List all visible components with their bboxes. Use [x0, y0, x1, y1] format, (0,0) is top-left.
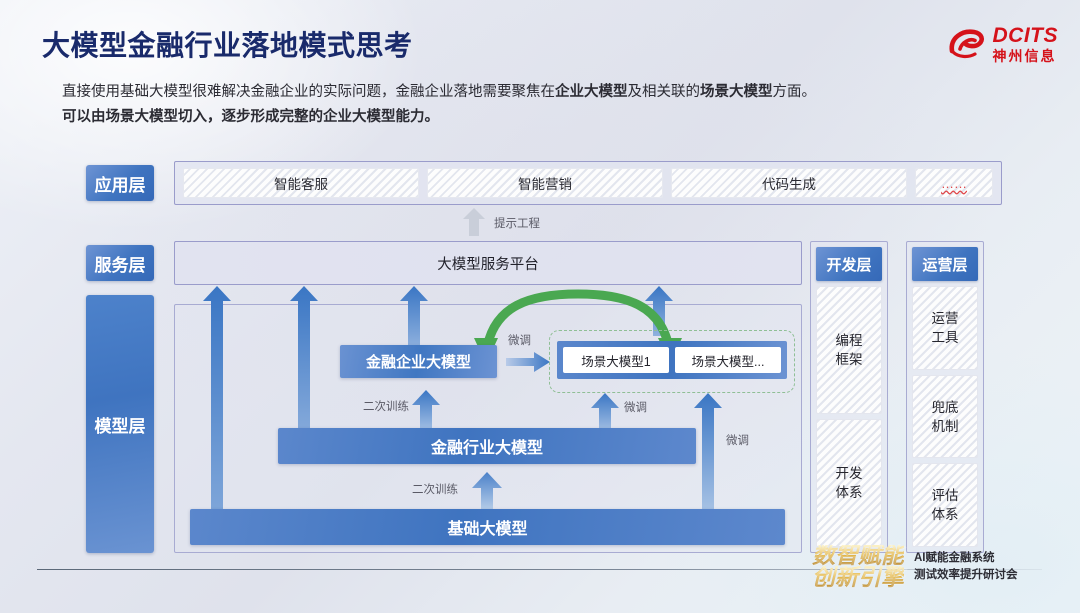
dev-cell-programming-framework[interactable]: 编程 框架 [816, 286, 882, 414]
prompt-engineering-arrow-icon [463, 208, 485, 236]
watermark-logo-text: 数智赋能 创新引擎 [812, 545, 904, 589]
arrow-up-enterprise-to-service-icon [400, 286, 428, 353]
base-model-box[interactable]: 基础大模型 [190, 509, 785, 545]
subtitle-seg-a: 直接使用基础大模型很难解决金融企业的实际问题，金融企业落地需要聚焦在 [62, 84, 555, 100]
app-item-marketing[interactable]: 智能营销 [427, 168, 663, 198]
subtitle-seg-d: 场景大模型 [700, 84, 773, 100]
layer-pill-model: 模型层 [86, 295, 154, 553]
development-layer-panel: 开发层 编程 框架 开发 体系 [810, 241, 888, 553]
dev-cell-dev-system[interactable]: 开发 体系 [816, 419, 882, 547]
enterprise-model-box[interactable]: 金融企业大模型 [340, 345, 497, 378]
ellipsis-text: …… [941, 176, 967, 191]
arrow-up-second-training-1-icon [412, 390, 440, 433]
service-platform-box: 大模型服务平台 [174, 241, 802, 285]
ops-cell-evaluation-system[interactable]: 评估 体系 [912, 463, 978, 547]
brand-logo: DCITS 神州信息 [946, 24, 1059, 64]
watermark-sub-line-1: AI赋能金融系统 [914, 550, 1018, 567]
industry-model-box[interactable]: 金融行业大模型 [278, 428, 696, 464]
arrow-up-base-to-service-icon [203, 286, 231, 521]
logo-text-en: DCITS [993, 25, 1059, 46]
finetune-label-3: 微调 [726, 432, 749, 448]
finetune-label-1: 微调 [508, 332, 531, 348]
arrow-right-finetune-icon [506, 352, 550, 377]
prompt-engineering-label: 提示工程 [494, 215, 540, 231]
scene-model-item-2[interactable]: 场景大模型... [675, 347, 781, 373]
layer-pill-development: 开发层 [816, 247, 882, 281]
subtitle-seg-b: 企业大模型 [555, 84, 628, 100]
arrow-up-second-training-2-icon [472, 472, 502, 514]
app-item-code-generation[interactable]: 代码生成 [671, 168, 907, 198]
application-layer-box: 智能客服 智能营销 代码生成 …… [174, 161, 1002, 205]
page-title: 大模型金融行业落地模式思考 [42, 24, 413, 64]
ops-cell-fallback-mechanism[interactable]: 兜底 机制 [912, 375, 978, 459]
scene-model-item-1[interactable]: 场景大模型1 [563, 347, 669, 373]
watermark-line-1: 数智赋能 [812, 545, 904, 566]
app-item-more[interactable]: …… [915, 168, 993, 198]
subtitle-line-2: 可以由场景大模型切入，逐步形成完整的企业大模型能力。 [62, 105, 1022, 130]
layer-pill-service: 服务层 [86, 245, 154, 281]
subtitle-seg-c: 及相关联的 [628, 84, 701, 100]
second-training-label-1: 二次训练 [363, 398, 409, 414]
subtitle-block: 直接使用基础大模型很难解决金融企业的实际问题，金融企业落地需要聚焦在企业大模型及… [62, 80, 1022, 130]
dcits-swirl-icon [946, 24, 986, 64]
watermark-subtitle: AI赋能金融系统 测试效率提升研讨会 [914, 550, 1018, 584]
scene-models-box: 场景大模型1 场景大模型... [557, 341, 787, 379]
subtitle-line-1: 直接使用基础大模型很难解决金融企业的实际问题，金融企业落地需要聚焦在企业大模型及… [62, 80, 1022, 105]
app-item-customer-service[interactable]: 智能客服 [183, 168, 419, 198]
watermark-sub-line-2: 测试效率提升研讨会 [914, 567, 1018, 584]
watermark-line-2: 创新引擎 [812, 566, 904, 589]
operation-layer-panel: 运营层 运营 工具 兜底 机制 评估 体系 [906, 241, 984, 553]
arrow-up-base-to-scene-icon [694, 393, 722, 514]
slide-root: 大模型金融行业落地模式思考 直接使用基础大模型很难解决金融企业的实际问题，金融企… [0, 0, 1080, 613]
layer-pill-operation: 运营层 [912, 247, 978, 281]
layer-pill-application: 应用层 [86, 165, 154, 201]
arrow-up-industry-to-service-icon [290, 286, 318, 441]
subtitle-seg-e: 方面。 [773, 84, 817, 100]
ops-cell-operation-tools[interactable]: 运营 工具 [912, 286, 978, 370]
logo-text-cn: 神州信息 [993, 49, 1059, 63]
event-watermark: 数智赋能 创新引擎 AI赋能金融系统 测试效率提升研讨会 [812, 545, 1018, 589]
finetune-label-2: 微调 [624, 399, 647, 415]
second-training-label-2: 二次训练 [412, 481, 458, 497]
